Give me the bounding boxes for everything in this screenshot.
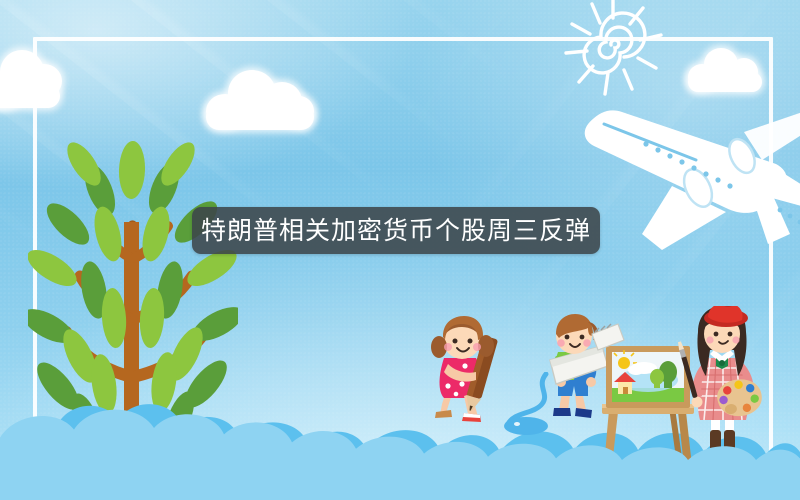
airplane-icon [576,82,800,252]
cloud-band-front [0,396,800,500]
page-title: 特朗普相关加密货币个股周三反弹 [201,218,591,243]
notepad-icon [588,322,628,362]
illustration-canvas: 特朗普相关加密货币个股周三反弹 [0,0,800,500]
title-banner[interactable]: 特朗普相关加密货币个股周三反弹 [192,207,600,254]
